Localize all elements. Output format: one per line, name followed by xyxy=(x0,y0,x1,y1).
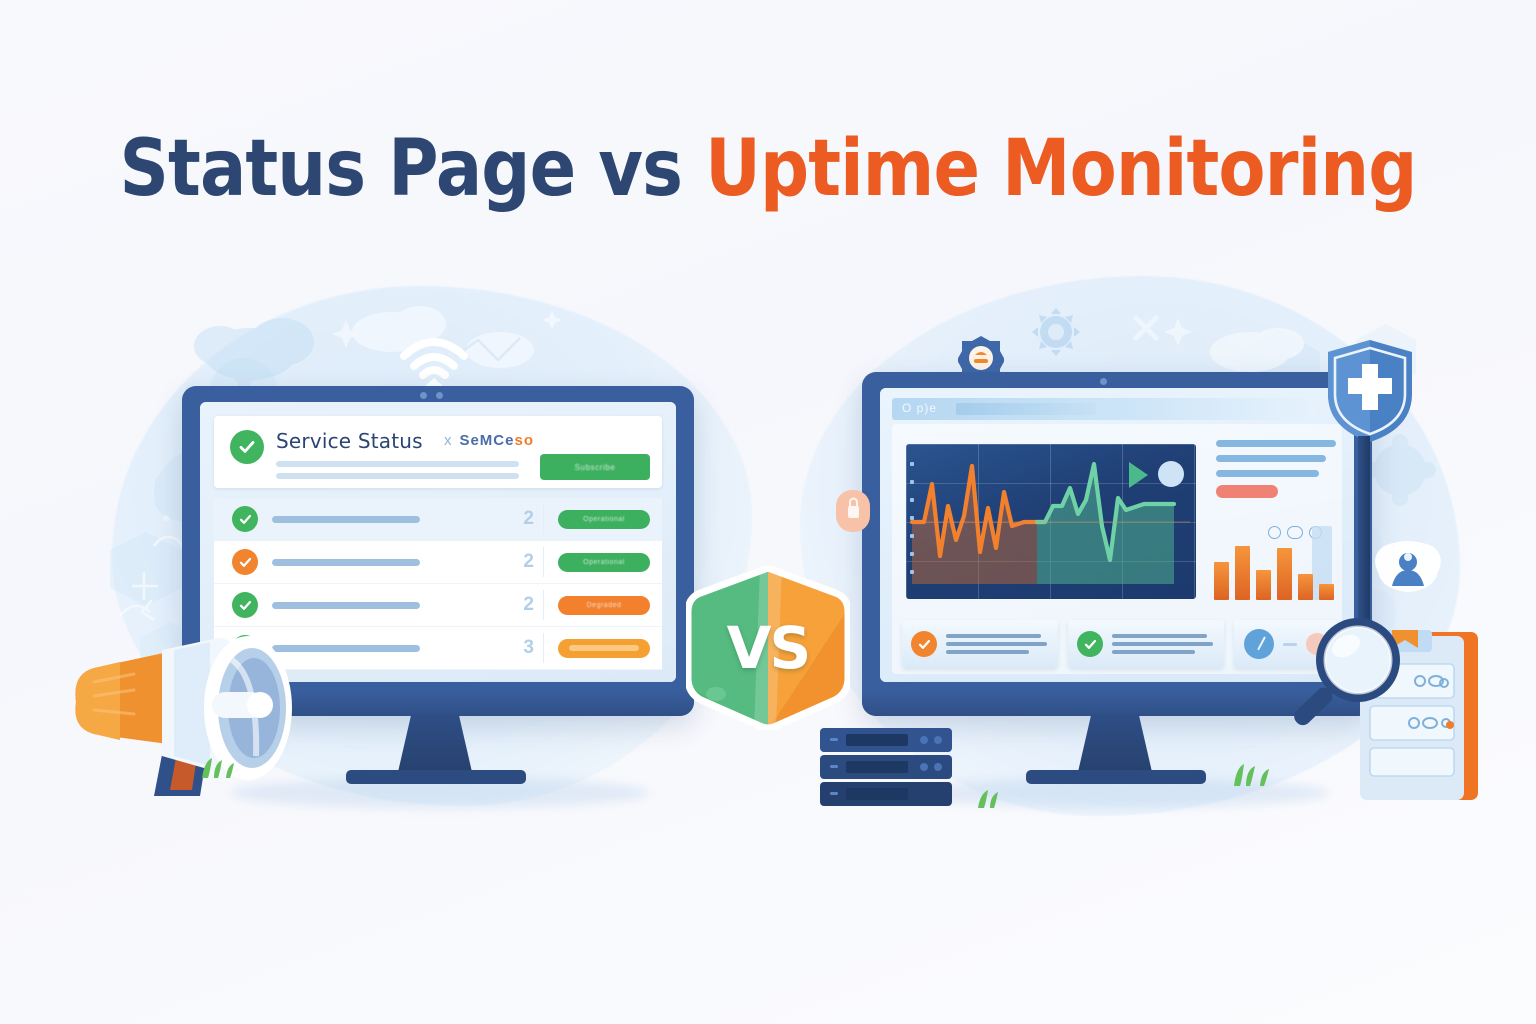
page-title-dark: Status Page vs xyxy=(119,124,705,214)
bar xyxy=(1298,574,1313,600)
status-badge-label: Operational xyxy=(583,559,625,566)
side-alert-chip xyxy=(1216,485,1278,498)
brand-name: SeMCe xyxy=(459,432,514,449)
brand-logo-text: xSeMCeso xyxy=(444,432,534,449)
play-marker-icon xyxy=(1129,462,1148,488)
stat-card-lines xyxy=(946,634,1049,654)
row-label-placeholder xyxy=(272,516,420,523)
row-label-placeholder xyxy=(272,602,420,609)
status-badge-label: Degraded xyxy=(587,602,622,609)
monitor-stand-base xyxy=(346,770,526,784)
table-row[interactable]: 2 Operational xyxy=(214,541,662,584)
bar-chart xyxy=(1214,538,1338,600)
gear-icon xyxy=(1028,304,1084,360)
status-page-title: Service Status xyxy=(276,429,423,453)
lock-chip-icon xyxy=(836,490,870,532)
check-circle-orange-icon xyxy=(911,631,937,657)
check-circle-orange-icon xyxy=(232,549,258,575)
side-line xyxy=(1216,440,1336,447)
brand-x-mark: x xyxy=(444,432,453,449)
stat-card-lines xyxy=(1112,634,1215,654)
webcam-dot xyxy=(420,392,427,399)
status-badge-inner xyxy=(569,645,639,651)
status-badge xyxy=(558,639,650,658)
bar xyxy=(1319,584,1334,600)
user-chip-icon xyxy=(1372,540,1444,598)
status-page-header: Service Status xSeMCeso Subscribe xyxy=(214,416,662,488)
subscribe-button[interactable]: Subscribe xyxy=(540,454,650,480)
side-line xyxy=(1216,470,1319,477)
page-title-accent: Uptime Monitoring xyxy=(705,124,1416,214)
cross-icon xyxy=(1128,312,1162,346)
table-row[interactable]: 2 Operational xyxy=(214,498,662,541)
chart-series xyxy=(906,444,1196,599)
row-count: 2 xyxy=(523,551,534,573)
megaphone-icon xyxy=(62,630,327,805)
page-title: Status Page vs Uptime Monitoring xyxy=(92,126,1444,212)
header-placeholder-line-1 xyxy=(276,461,519,467)
magnifier-icon xyxy=(1288,614,1408,740)
check-circle-green-icon xyxy=(1077,631,1103,657)
check-circle-green-icon xyxy=(232,506,258,532)
row-divider xyxy=(543,504,544,534)
bar xyxy=(1235,546,1250,600)
row-count: 2 xyxy=(523,508,534,530)
row-label-placeholder xyxy=(272,559,420,566)
bar xyxy=(1214,562,1229,600)
vs-badge-label: VS xyxy=(686,566,850,730)
shield-pole xyxy=(1358,436,1370,636)
check-circle-green-icon xyxy=(232,592,258,618)
table-row[interactable]: 2 Degraded xyxy=(214,584,662,627)
row-divider xyxy=(543,547,544,577)
vs-badge: VS xyxy=(686,566,850,730)
status-badge: Degraded xyxy=(558,596,650,615)
brand-tail: so xyxy=(514,432,534,449)
wifi-icon xyxy=(396,334,472,390)
grass-decor xyxy=(196,756,240,774)
stat-card-row xyxy=(902,620,1338,668)
uptime-chart xyxy=(906,444,1196,599)
dashboard-side-panel xyxy=(1216,440,1336,498)
grass-decor xyxy=(1228,762,1278,780)
header-placeholder-line-2 xyxy=(276,473,519,479)
led-dot xyxy=(436,392,443,399)
status-badge-label: Operational xyxy=(583,516,625,523)
bar xyxy=(1277,548,1292,600)
bar xyxy=(1256,570,1271,600)
gauge-icon xyxy=(1244,629,1274,659)
chart-orb-marker xyxy=(1158,461,1184,487)
side-line xyxy=(1216,455,1326,462)
monitor-stand-base xyxy=(1026,770,1206,784)
dashboard-topbar-label: O p)e xyxy=(902,401,937,415)
status-badge: Operational xyxy=(558,510,650,529)
stat-card[interactable] xyxy=(902,620,1058,668)
webcam-dot xyxy=(1100,378,1107,385)
subscribe-button-label: Subscribe xyxy=(575,463,616,472)
row-divider xyxy=(543,590,544,620)
dashboard-topbar-placeholder xyxy=(956,403,1096,415)
illustration-canvas: Service Status xSeMCeso Subscribe 2 xyxy=(0,0,1536,1024)
grass-decor xyxy=(972,788,1016,806)
status-badge: Operational xyxy=(558,553,650,572)
row-divider xyxy=(543,633,544,663)
monitor-screen-right: O p)e xyxy=(880,388,1354,682)
row-count: 3 xyxy=(523,637,534,659)
dashboard-topbar: O p)e xyxy=(892,398,1314,420)
shield-cross-icon xyxy=(1322,336,1418,446)
check-circle-green-icon xyxy=(230,430,264,464)
row-count: 2 xyxy=(523,594,534,616)
server-stack-icon xyxy=(816,726,976,812)
stat-card[interactable] xyxy=(1068,620,1224,668)
